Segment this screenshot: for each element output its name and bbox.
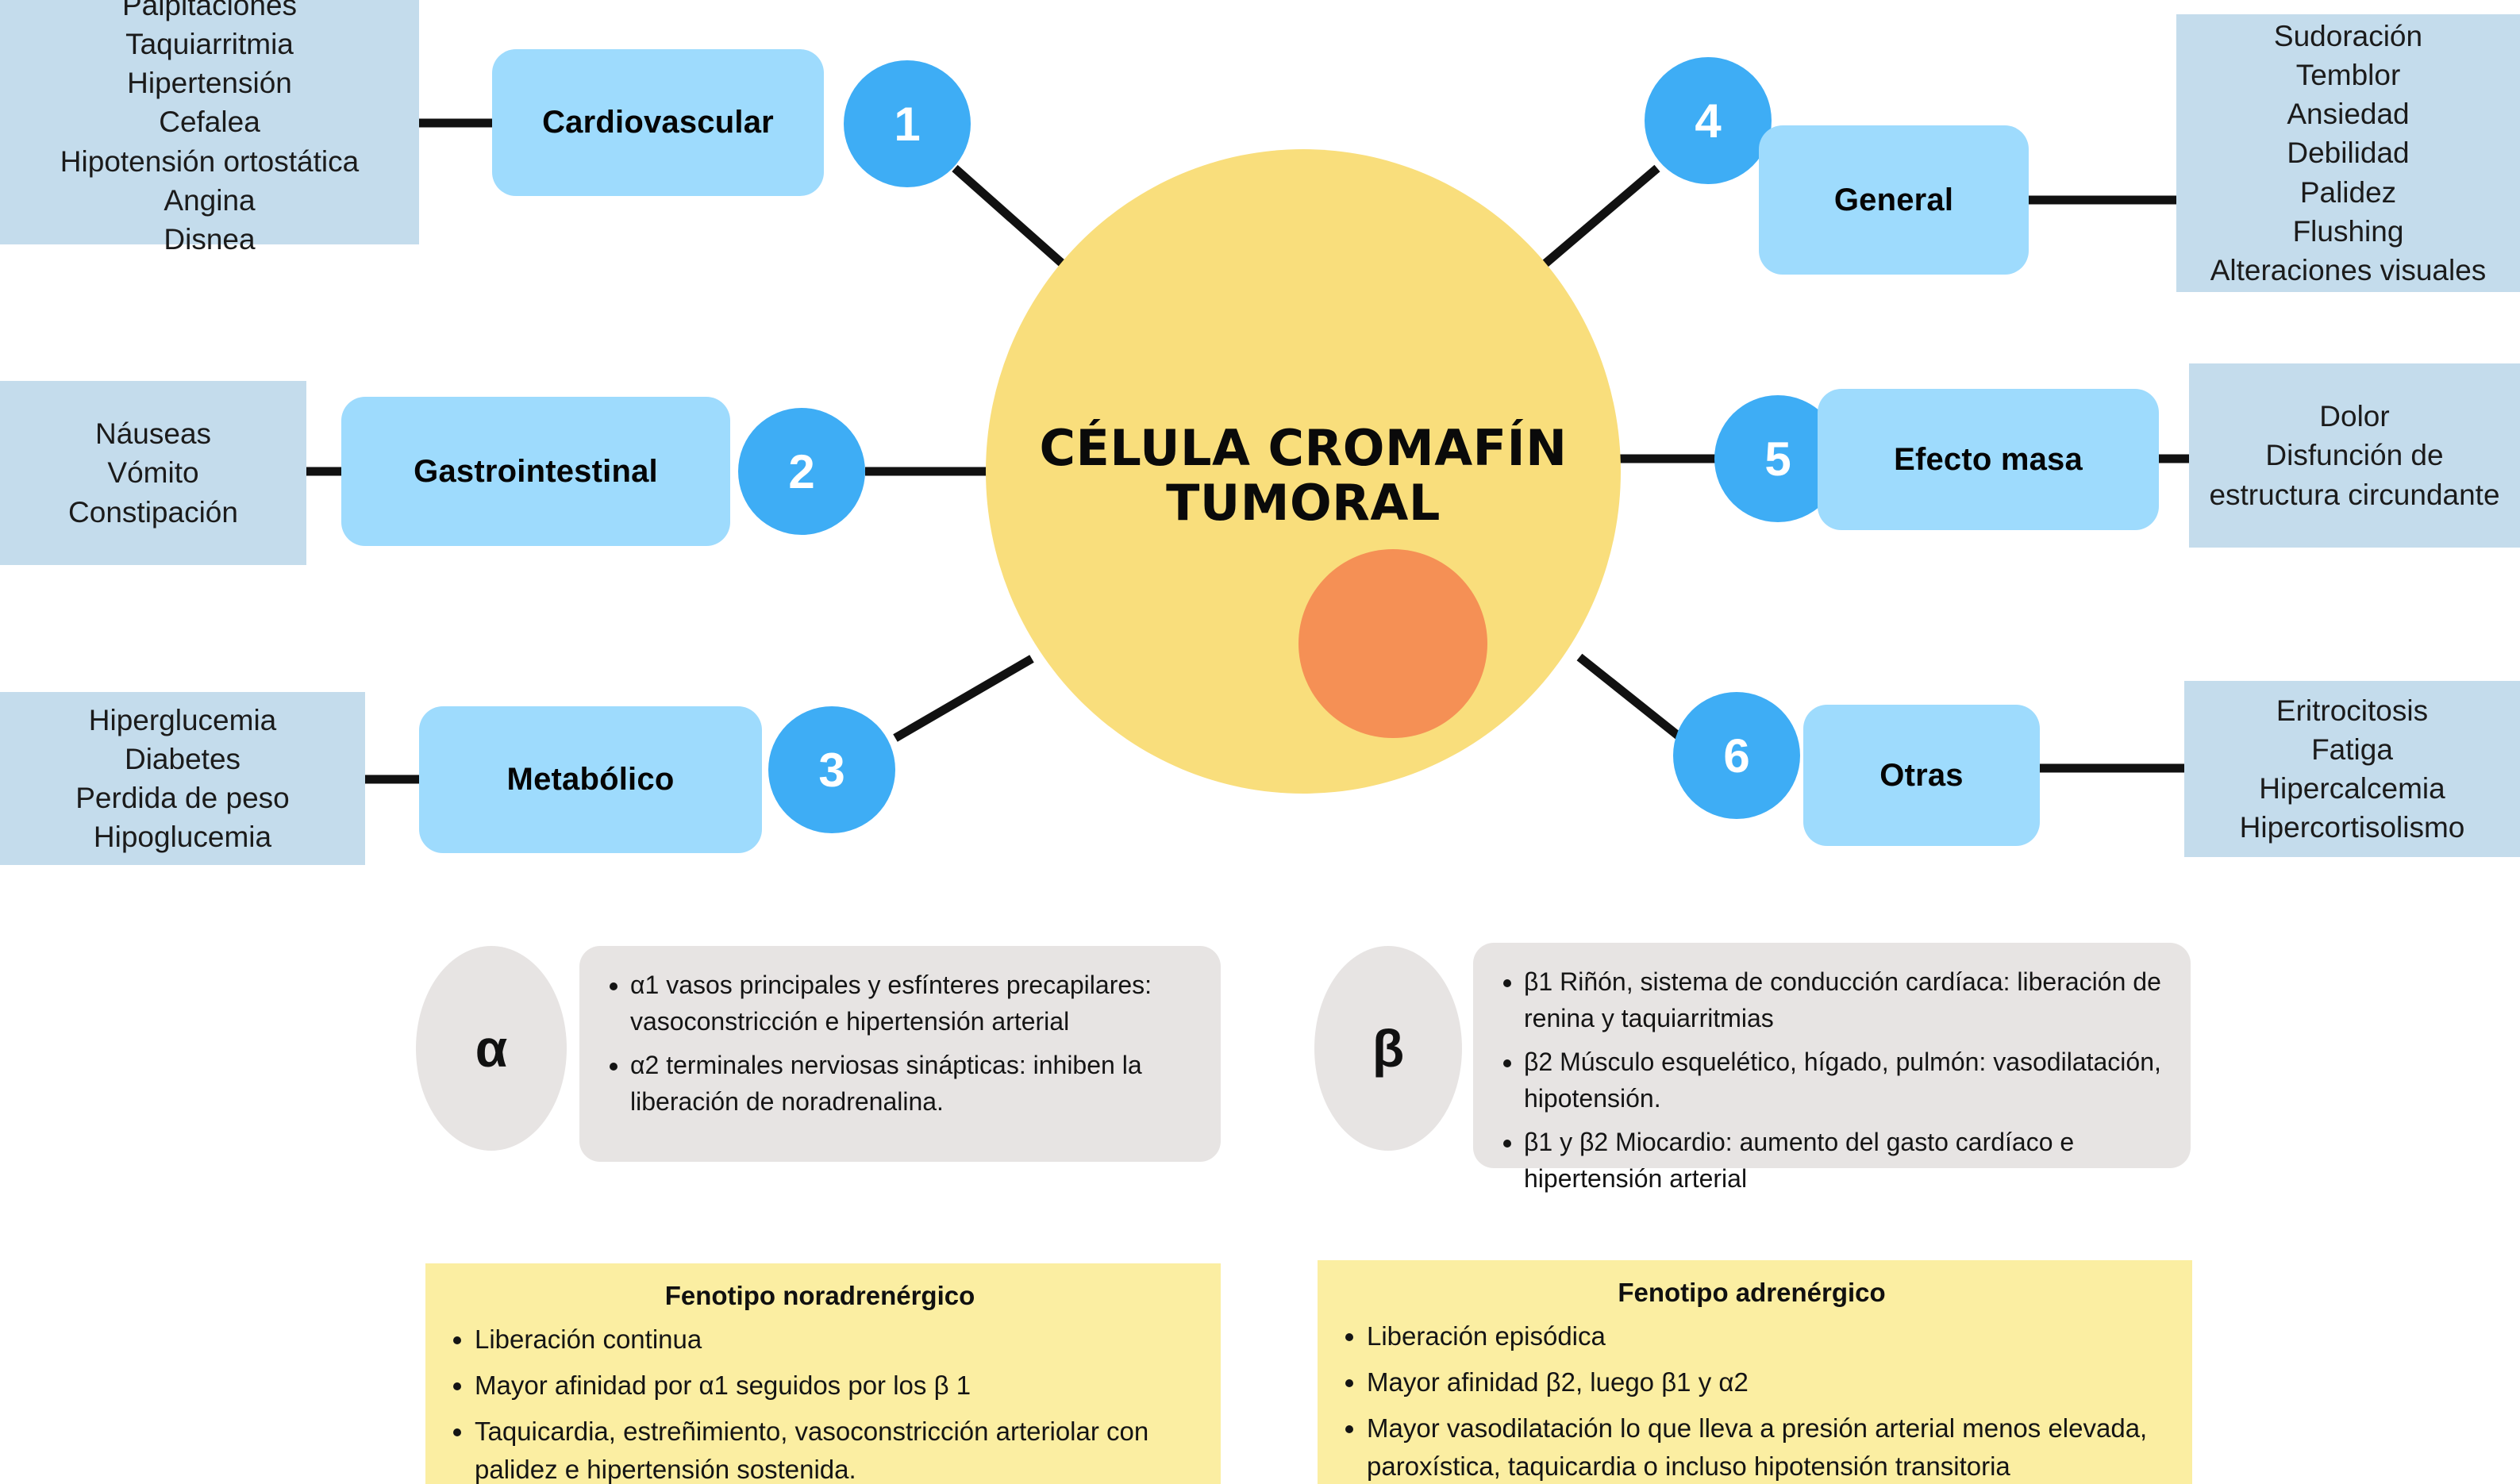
category-label: Metabólico (507, 762, 675, 798)
symptom-item: Constipación (68, 493, 238, 532)
branch-number-label: 5 (1764, 432, 1791, 486)
category-chip-efecto-masa[interactable]: Efecto masa (1818, 389, 2159, 530)
symptom-item: Cefalea (159, 102, 260, 141)
phenotype-bullet: Liberación episódica (1367, 1317, 2165, 1355)
category-chip-gastrointestinal[interactable]: Gastrointestinal (341, 397, 730, 546)
connector-cell-node6 (1579, 657, 1681, 738)
receptor-card-beta: β1 Riñón, sistema de conducción cardíaca… (1473, 943, 2191, 1168)
branch-number-label: 3 (818, 743, 844, 798)
branch-number-label: 4 (1695, 94, 1721, 148)
branch-number-label: 2 (788, 444, 814, 499)
symptom-item: Taquiarritmia (125, 25, 294, 63)
symptom-item: Diabetes (125, 740, 240, 779)
category-label: Cardiovascular (542, 105, 774, 140)
symptom-item: Palidez (2300, 173, 2396, 212)
phenotype-title: Fenotipo adrenérgico (1338, 1278, 2165, 1308)
symptom-item: Hiperglucemia (89, 701, 277, 740)
symptom-panel-general: Sudoración Temblor Ansiedad Debilidad Pa… (2176, 14, 2520, 292)
receptor-symbol: α (475, 1018, 508, 1078)
symptom-item: Perdida de peso (75, 779, 289, 817)
symptom-panel-cardiovascular: Palpitaciones Taquiarritmia Hipertensión… (0, 0, 419, 244)
category-label: General (1834, 183, 1953, 218)
symptom-item: Debilidad (2287, 133, 2409, 172)
category-label: Efecto masa (1894, 442, 2083, 478)
symptom-item: Disnea (164, 220, 255, 259)
symptom-panel-gastrointestinal: Náuseas Vómito Constipación (0, 381, 306, 565)
phenotype-card-adrenergico: Fenotipo adrenérgico Liberación episódic… (1318, 1260, 2192, 1484)
category-chip-metabolico[interactable]: Metabólico (419, 706, 762, 853)
cell-nucleus-circle (1298, 549, 1487, 738)
phenotype-card-noradrenergico: Fenotipo noradrenérgico Liberación conti… (425, 1263, 1221, 1484)
symptom-item: Hipercalcemia (2259, 769, 2445, 808)
symptom-panel-metabolico: Hiperglucemia Diabetes Perdida de peso H… (0, 692, 365, 865)
phenotype-bullet: Mayor afinidad por α1 seguidos por los β… (475, 1367, 1194, 1405)
phenotype-title: Fenotipo noradrenérgico (446, 1281, 1194, 1311)
receptor-badge-alpha: α (416, 946, 567, 1151)
receptor-bullet: β1 y β2 Miocardio: aumento del gasto car… (1524, 1124, 2164, 1198)
connector-cell-node4 (1540, 168, 1657, 268)
symptom-item: Hipertensión (127, 63, 292, 102)
category-label: Otras (1879, 758, 1964, 794)
symptom-item: Ansiedad (2287, 94, 2409, 133)
symptom-item: Hipercortisolismo (2240, 808, 2465, 847)
symptom-item: Vómito (107, 453, 198, 492)
symptom-item: Temblor (2296, 56, 2401, 94)
receptor-bullet: β1 Riñón, sistema de conducción cardíaca… (1524, 963, 2164, 1037)
symptom-item: Hipoglucemia (94, 817, 271, 856)
receptor-card-alpha: α1 vasos principales y esfínteres precap… (579, 946, 1221, 1162)
branch-number-6[interactable]: 6 (1673, 692, 1800, 819)
branch-number-label: 6 (1723, 729, 1749, 783)
symptom-item: Alteraciones visuales (2210, 251, 2487, 290)
symptom-item: Eritrocitosis (2276, 691, 2428, 730)
cell-title-line-1: CÉLULA CROMAFÍN (1039, 419, 1567, 477)
symptom-item: Flushing (2293, 212, 2404, 251)
receptor-bullet: α2 terminales nerviosas sinápticas: inhi… (630, 1047, 1194, 1121)
connector-node3-cell (895, 659, 1032, 738)
symptom-item: Dolor (2319, 397, 2389, 436)
symptom-item: Disfunción de estructura circundante (2197, 436, 2512, 513)
branch-number-1[interactable]: 1 (844, 60, 971, 187)
branch-number-3[interactable]: 3 (768, 706, 895, 833)
mindmap-canvas: CÉLULA CROMAFÍN TUMORAL Palpitaciones Ta… (0, 0, 2520, 1484)
connector-node1-cell (955, 168, 1068, 268)
receptor-bullet: β2 Músculo esquelético, hígado, pulmón: … (1524, 1044, 2164, 1117)
category-chip-general[interactable]: General (1759, 125, 2029, 275)
branch-number-4[interactable]: 4 (1645, 57, 1772, 184)
symptom-panel-efecto-masa: Dolor Disfunción de estructura circundan… (2189, 363, 2520, 548)
phenotype-bullet: Taquicardia, estreñimiento, vasoconstric… (475, 1413, 1194, 1484)
symptom-item: Palpitaciones (122, 0, 297, 25)
phenotype-bullet: Liberación continua (475, 1321, 1194, 1359)
branch-number-2[interactable]: 2 (738, 408, 865, 535)
receptor-symbol: β (1372, 1018, 1404, 1078)
phenotype-bullet: Mayor afinidad β2, luego β1 y α2 (1367, 1363, 2165, 1401)
symptom-item: Fatiga (2311, 730, 2393, 769)
phenotype-bullet: Mayor vasodilatación lo que lleva a pres… (1367, 1409, 2165, 1484)
cell-title-line-2: TUMORAL (1166, 474, 1441, 532)
symptom-item: Hipotensión ortostática (60, 142, 359, 181)
symptom-item: Angina (164, 181, 255, 220)
branch-number-label: 1 (894, 97, 920, 152)
category-chip-cardiovascular[interactable]: Cardiovascular (492, 49, 824, 196)
receptor-bullet: α1 vasos principales y esfínteres precap… (630, 967, 1194, 1040)
symptom-panel-otras: Eritrocitosis Fatiga Hipercalcemia Hiper… (2184, 681, 2520, 857)
page-title: CÉLULA CROMAFÍN TUMORAL (986, 421, 1621, 531)
receptor-badge-beta: β (1314, 946, 1462, 1151)
category-chip-otras[interactable]: Otras (1803, 705, 2040, 846)
category-label: Gastrointestinal (414, 454, 658, 490)
symptom-item: Sudoración (2274, 17, 2422, 56)
symptom-item: Náuseas (95, 414, 211, 453)
